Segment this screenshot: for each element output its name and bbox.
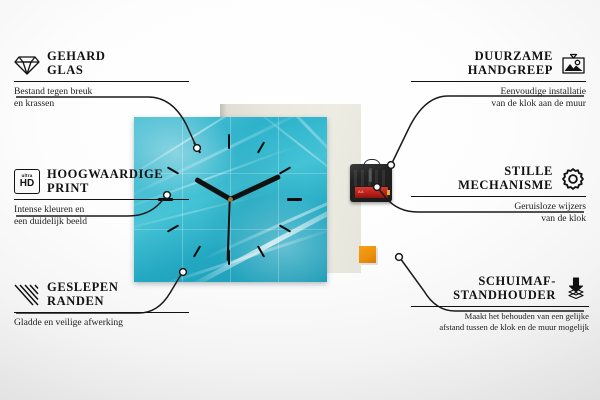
beveled-edge-icon [14, 283, 40, 307]
framed-picture-icon [560, 52, 586, 76]
press-down-icon [563, 277, 589, 301]
divider [411, 196, 586, 197]
divider [14, 312, 189, 313]
hands-center-cap [228, 197, 233, 202]
feature-title: SCHUIMAF- STANDHOUDER [453, 275, 556, 302]
feature-subtitle: Eenvoudige installatie van de klok aan d… [411, 86, 586, 109]
feature-title: DUURZAME HANDGREEP [468, 50, 553, 77]
feature-stille-mechanisme: STILLE MECHANISME Geruisloze wijzers van… [411, 165, 586, 224]
feature-schuimaf-standhouder: SCHUIMAF- STANDHOUDER Maakt het behouden… [411, 275, 589, 332]
feature-title: STILLE MECHANISME [458, 165, 553, 192]
feature-geslepen-randen: GESLEPEN RANDEN Gladde en veilige afwerk… [14, 281, 189, 329]
battery-label: AA [358, 189, 364, 194]
divider [14, 199, 189, 200]
feature-subtitle: Geruisloze wijzers van de klok [411, 201, 586, 224]
diamond-icon [14, 52, 40, 76]
infographic-canvas: AA [0, 0, 600, 400]
foam-spacer-pad [359, 246, 376, 263]
movement-hanger [363, 159, 381, 169]
hour-tick [287, 198, 302, 201]
feature-title: HOOGWAARDIGE PRINT [47, 168, 163, 195]
feature-title: GESLEPEN RANDEN [47, 281, 119, 308]
feature-subtitle: Maakt het behouden van een gelijke afsta… [411, 311, 589, 332]
feature-gehard-glas: GEHARD GLAS Bestand tegen breuk en krass… [14, 50, 189, 109]
feature-subtitle: Intense kleuren en een duidelijk beeld [14, 204, 189, 227]
divider [14, 81, 189, 82]
connector-dot [396, 254, 403, 261]
battery: AA [355, 187, 388, 198]
gear-icon [560, 167, 586, 191]
feature-subtitle: Gladde en veilige afwerking [14, 317, 189, 328]
feature-hoogwaardige-print: ultra HD HOOGWAARDIGE PRINT Intense kleu… [14, 168, 189, 227]
divider [411, 306, 589, 307]
movement-texture [354, 170, 388, 186]
hour-tick [228, 134, 230, 149]
feature-subtitle: Bestand tegen breuk en krassen [14, 86, 189, 109]
feature-title: GEHARD GLAS [47, 50, 105, 77]
quartz-movement: AA [350, 164, 392, 202]
feature-duurzame-handgreep: DUURZAME HANDGREEP Eenvoudige installati… [411, 50, 586, 109]
divider [411, 81, 586, 82]
ultra-hd-icon: ultra HD [14, 169, 40, 194]
